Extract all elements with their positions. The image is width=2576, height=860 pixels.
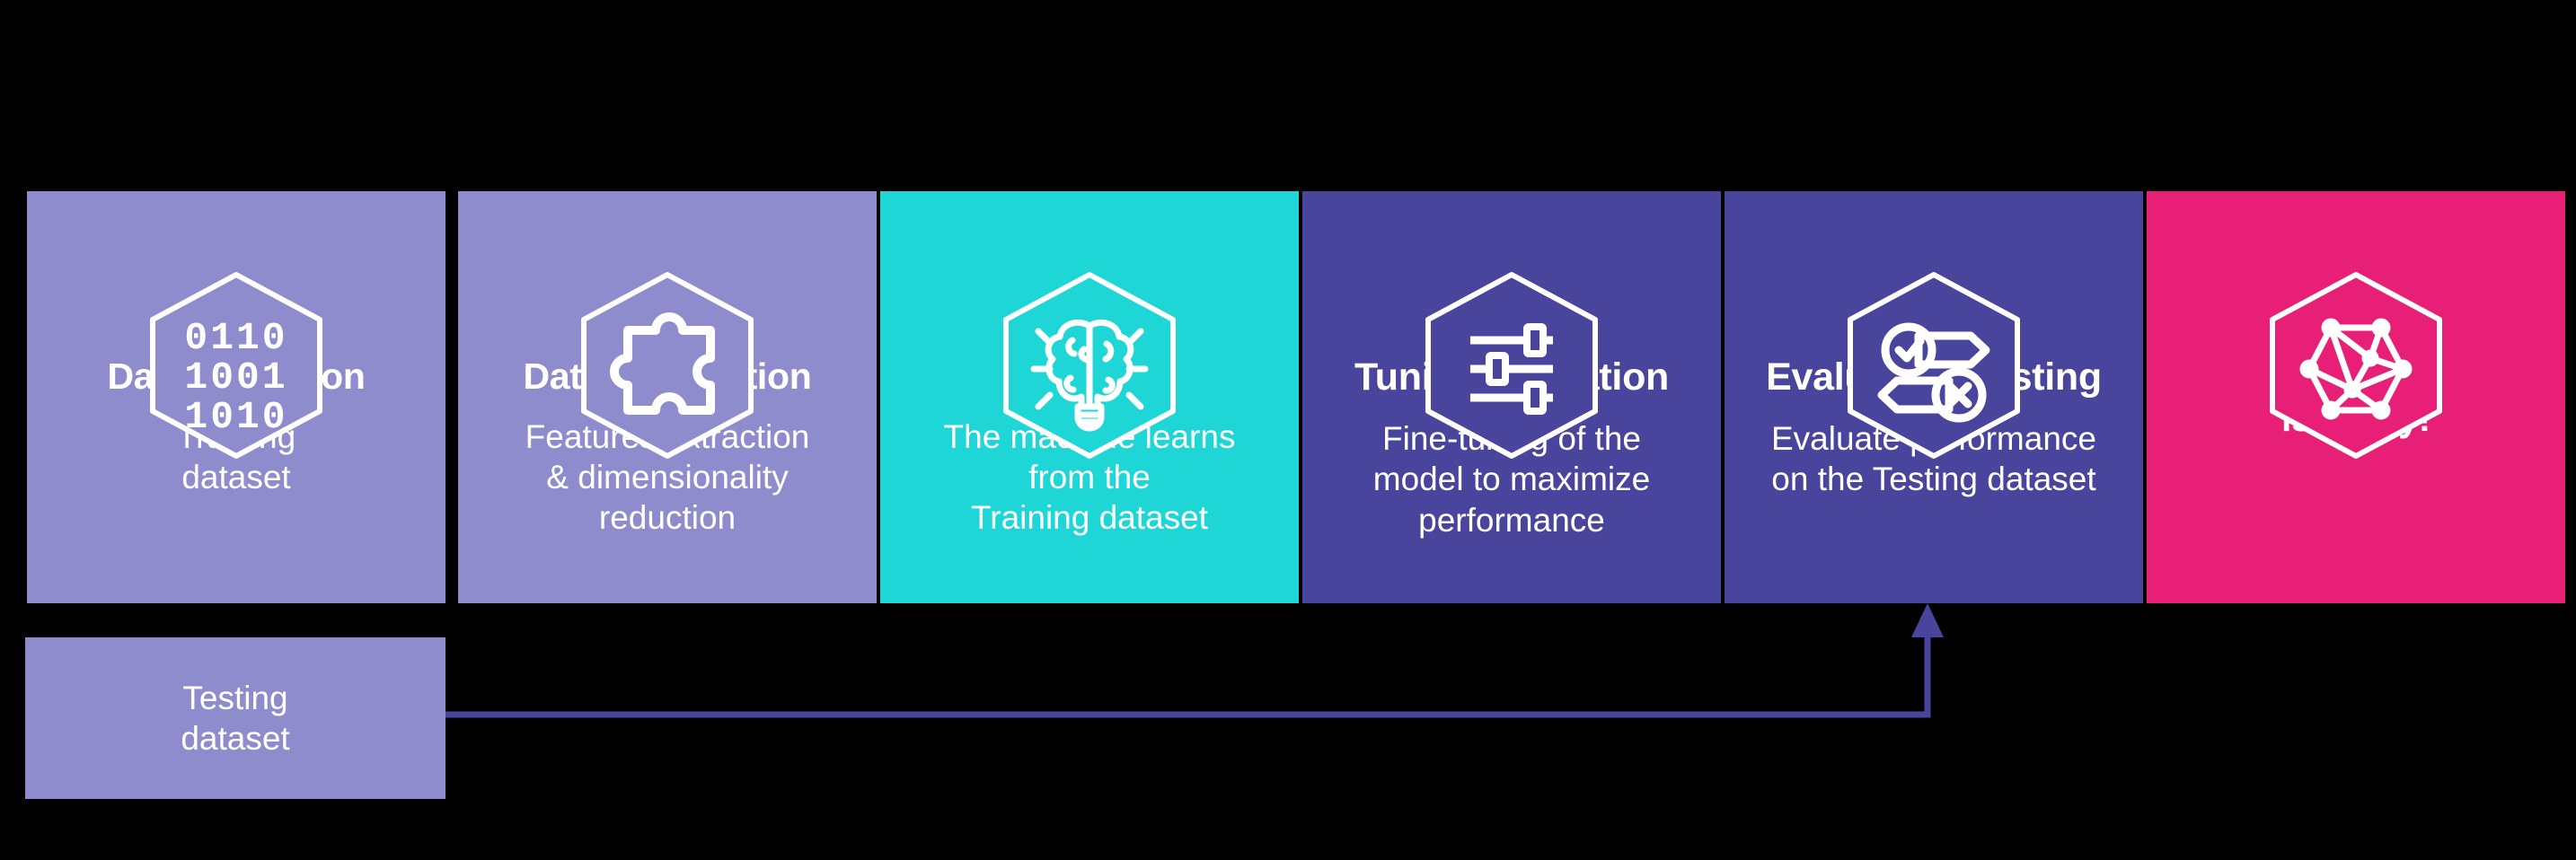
- testing-dataset-box[interactable]: Testing dataset: [25, 637, 446, 799]
- stage-card-data-collection[interactable]: 0110 1001 1010 Data collection Trainingd…: [27, 191, 446, 603]
- stage-card-model-ready[interactable]: Modelis ready!: [2147, 191, 2565, 603]
- svg-text:1010: 1010: [184, 395, 287, 439]
- binary-code-icon: 0110 1001 1010: [134, 270, 339, 461]
- brain-bulb-icon: [987, 270, 1192, 461]
- ml-pipeline-diagram: 0110 1001 1010 Data collection Trainingd…: [0, 0, 2576, 860]
- check-cross-arrows-icon: [1831, 270, 2036, 461]
- neural-network-icon: [2254, 270, 2458, 461]
- svg-text:1001: 1001: [184, 355, 287, 399]
- stage-card-training[interactable]: Training The machine learnsfrom theTrain…: [880, 191, 1299, 603]
- svg-text:0110: 0110: [184, 316, 287, 360]
- puzzle-piece-icon: [565, 270, 770, 461]
- stage-card-data-preparation[interactable]: Data preparation Features extraction& di…: [458, 191, 877, 603]
- stage-card-evaluation-testing[interactable]: Evaluation/Testing Evaluate performanceo…: [1725, 191, 2143, 603]
- stage-card-tuning-validation[interactable]: Tuning/Validation Fine-tuning of themode…: [1302, 191, 1721, 603]
- testing-dataset-line2: dataset: [181, 718, 289, 759]
- testing-dataset-line1: Testing: [182, 678, 287, 718]
- sliders-icon: [1409, 270, 1614, 461]
